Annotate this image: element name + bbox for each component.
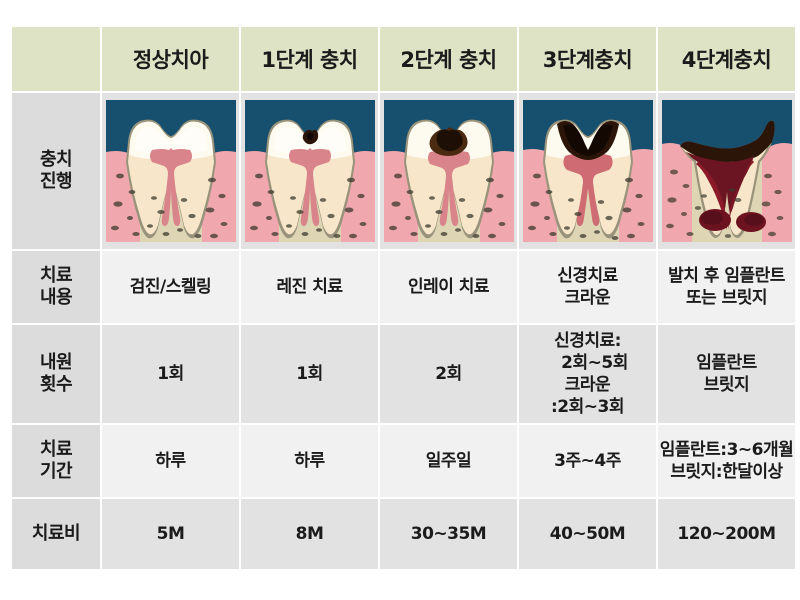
comparison-table-container: 정상치아 1단계 충치 2단계 충치 3단계충치 4단계충치 충치 진행 bbox=[10, 25, 786, 571]
cell-cost-stage3: 40~50M bbox=[519, 499, 656, 569]
column-header-stage4: 4단계충치 bbox=[658, 27, 795, 91]
text-line: 임플란트 bbox=[658, 352, 795, 374]
text-line: 발치 후 임플란트 bbox=[658, 265, 795, 287]
table-row-duration: 치료 기간 하루 하루 일주일 bbox=[12, 425, 795, 497]
row-label-visits-line2: 횟수 bbox=[12, 374, 100, 396]
text-line: 1회 bbox=[241, 363, 378, 385]
cell-progress-stage1 bbox=[241, 93, 378, 249]
cell-duration-stage3: 3주~4주 bbox=[519, 425, 656, 497]
text-line: 120~200M bbox=[658, 523, 795, 545]
cell-treatment-stage3: 신경치료 크라운 bbox=[519, 251, 656, 323]
text-line: 레진 치료 bbox=[241, 276, 378, 298]
text-line: 신경치료 bbox=[519, 265, 656, 287]
text-line: 1회 bbox=[102, 363, 239, 385]
cell-progress-stage3 bbox=[519, 93, 656, 249]
column-header-normal: 정상치아 bbox=[102, 27, 239, 91]
cell-duration-normal: 하루 bbox=[102, 425, 239, 497]
table-header: 정상치아 1단계 충치 2단계 충치 3단계충치 4단계충치 bbox=[12, 27, 795, 91]
row-label-progress: 충치 진행 bbox=[12, 93, 100, 249]
row-label-cost: 치료비 bbox=[12, 499, 100, 569]
text-line: 40~50M bbox=[519, 523, 656, 545]
table-row-cost: 치료비 5M 8M 30~35M bbox=[12, 499, 795, 569]
caries-stage-comparison-table: 정상치아 1단계 충치 2단계 충치 3단계충치 4단계충치 충치 진행 bbox=[10, 25, 797, 571]
tooth-stage4-icon bbox=[662, 100, 792, 242]
cell-progress-normal bbox=[102, 93, 239, 249]
column-header-stage3: 3단계충치 bbox=[519, 27, 656, 91]
text-line: 하루 bbox=[102, 450, 239, 472]
row-label-duration-line1: 치료 bbox=[12, 439, 100, 461]
tooth-stage3-icon bbox=[523, 100, 653, 242]
cell-progress-stage2 bbox=[380, 93, 517, 249]
table-row-progress: 충치 진행 bbox=[12, 93, 795, 249]
cell-treatment-stage4: 발치 후 임플란트 또는 브릿지 bbox=[658, 251, 795, 323]
text-line: 2회~5회 bbox=[519, 352, 656, 374]
row-label-treatment-line1: 치료 bbox=[12, 265, 100, 287]
text-line: 크라운 bbox=[519, 287, 656, 309]
text-line: :2회~3회 bbox=[519, 396, 656, 418]
cell-duration-stage2: 일주일 bbox=[380, 425, 517, 497]
row-label-progress-line2: 진행 bbox=[12, 171, 100, 193]
cell-duration-stage4: 임플란트:3~6개월 브릿지:한달이상 bbox=[658, 425, 795, 497]
cell-visits-stage2: 2회 bbox=[380, 325, 517, 424]
cell-treatment-stage2: 인레이 치료 bbox=[380, 251, 517, 323]
column-header-stage2: 2단계 충치 bbox=[380, 27, 517, 91]
row-label-duration-line2: 기간 bbox=[12, 461, 100, 483]
text-line: 브릿지 bbox=[658, 374, 795, 396]
cell-cost-stage4: 120~200M bbox=[658, 499, 795, 569]
tooth-normal-icon bbox=[106, 100, 236, 242]
text-line: 일주일 bbox=[380, 450, 517, 472]
text-line: 30~35M bbox=[380, 523, 517, 545]
cell-cost-normal: 5M bbox=[102, 499, 239, 569]
row-label-duration: 치료 기간 bbox=[12, 425, 100, 497]
row-label-treatment-line2: 내용 bbox=[12, 287, 100, 309]
cell-cost-stage1: 8M bbox=[241, 499, 378, 569]
text-line: 임플란트:3~6개월 bbox=[658, 439, 795, 461]
tooth-stage2-icon bbox=[384, 100, 514, 242]
text-line: 크라운 bbox=[519, 374, 656, 396]
text-line: 인레이 치료 bbox=[380, 276, 517, 298]
cell-visits-stage1: 1회 bbox=[241, 325, 378, 424]
text-line: 신경치료: bbox=[519, 330, 656, 352]
text-line: 브릿지:한달이상 bbox=[658, 461, 795, 483]
text-line: 또는 브릿지 bbox=[658, 287, 795, 309]
row-label-progress-line1: 충치 bbox=[12, 149, 100, 171]
cell-treatment-normal: 검진/스켈링 bbox=[102, 251, 239, 323]
cell-visits-stage4: 임플란트 브릿지 bbox=[658, 325, 795, 424]
cell-cost-stage2: 30~35M bbox=[380, 499, 517, 569]
table-row-visits: 내원 횟수 1회 1회 2회 bbox=[12, 325, 795, 424]
row-label-cost-line1: 치료비 bbox=[12, 523, 100, 545]
cell-progress-stage4 bbox=[658, 93, 795, 249]
row-label-treatment: 치료 내용 bbox=[12, 251, 100, 323]
table-body: 충치 진행 bbox=[12, 93, 795, 569]
row-label-visits: 내원 횟수 bbox=[12, 325, 100, 424]
tooth-stage1-icon bbox=[245, 100, 375, 242]
cell-duration-stage1: 하루 bbox=[241, 425, 378, 497]
column-header-stage1: 1단계 충치 bbox=[241, 27, 378, 91]
text-line: 5M bbox=[102, 523, 239, 545]
cell-visits-stage3: 신경치료: 2회~5회 크라운 :2회~3회 bbox=[519, 325, 656, 424]
header-row: 정상치아 1단계 충치 2단계 충치 3단계충치 4단계충치 bbox=[12, 27, 795, 91]
text-line: 하루 bbox=[241, 450, 378, 472]
cell-visits-normal: 1회 bbox=[102, 325, 239, 424]
text-line: 3주~4주 bbox=[519, 450, 656, 472]
cell-treatment-stage1: 레진 치료 bbox=[241, 251, 378, 323]
row-label-visits-line1: 내원 bbox=[12, 352, 100, 374]
text-line: 검진/스켈링 bbox=[102, 276, 239, 298]
text-line: 8M bbox=[241, 523, 378, 545]
table-corner-cell bbox=[12, 27, 100, 91]
table-row-treatment: 치료 내용 검진/스켈링 레진 치료 인레이 치료 bbox=[12, 251, 795, 323]
text-line: 2회 bbox=[380, 363, 517, 385]
